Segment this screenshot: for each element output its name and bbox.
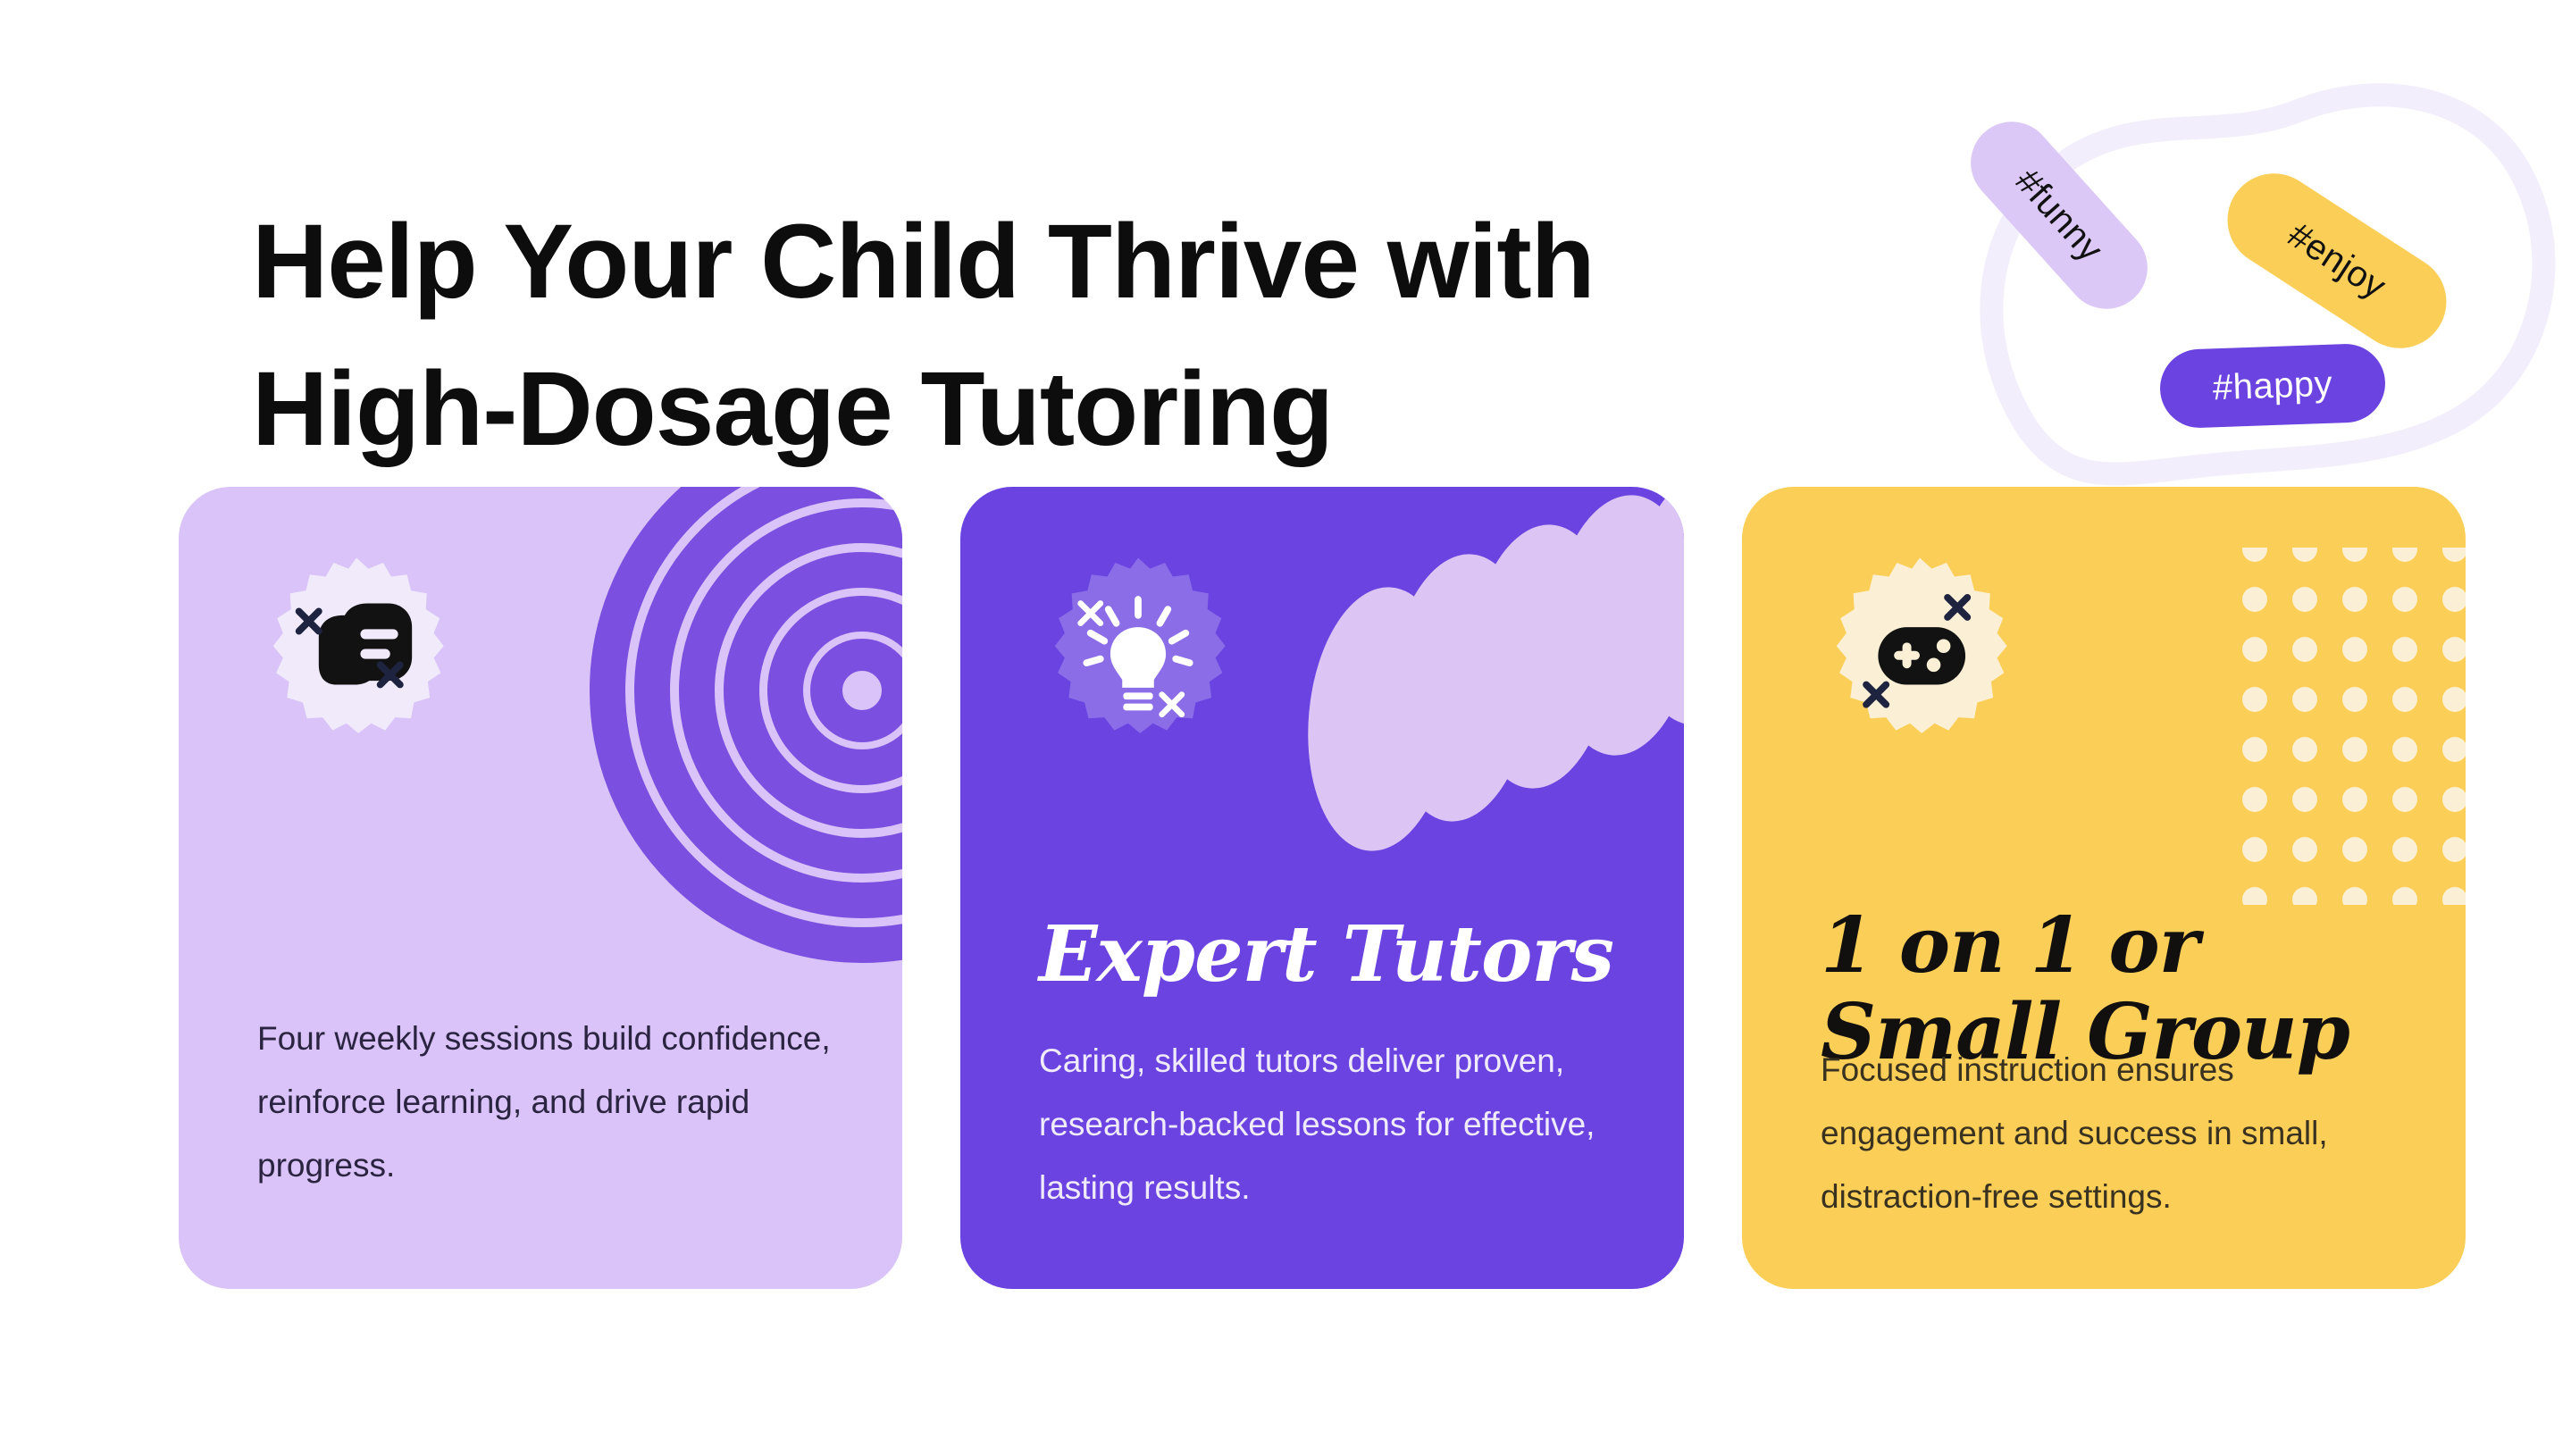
feature-cards-row: Four weekly sessions build confidence, r… bbox=[0, 487, 2571, 1291]
chat-bubbles-badge bbox=[257, 554, 456, 752]
card-weekly-sessions-text: Four weekly sessions build confidence, r… bbox=[257, 1007, 847, 1197]
card-weekly-sessions[interactable]: Four weekly sessions build confidence, r… bbox=[179, 487, 902, 1289]
tag-funny-label: #funny bbox=[2007, 161, 2111, 270]
tag-enjoy-label: #enjoy bbox=[2281, 214, 2393, 307]
gamepad-badge bbox=[1821, 554, 2019, 752]
lightbulb-badge bbox=[1039, 554, 1237, 752]
tag-enjoy[interactable]: #enjoy bbox=[2210, 155, 2465, 365]
tag-happy[interactable]: #happy bbox=[2159, 343, 2387, 430]
card-one-on-one-text: Focused instruction ensures engagement a… bbox=[1821, 1038, 2392, 1228]
tag-happy-label: #happy bbox=[2212, 364, 2333, 408]
card-one-on-one[interactable]: 1 on 1 or Small Group Focused instructio… bbox=[1742, 487, 2466, 1289]
tag-cluster: #funny #enjoy #happy bbox=[1921, 45, 2571, 491]
card-expert-tutors-title: Expert Tutors bbox=[1039, 912, 1613, 998]
page-title: Help Your Child Thrive with High-Dosage … bbox=[252, 188, 1771, 483]
tag-funny[interactable]: #funny bbox=[1954, 105, 2165, 325]
card-expert-tutors-text: Caring, skilled tutors deliver proven, r… bbox=[1039, 1029, 1655, 1219]
card-expert-tutors[interactable]: Expert Tutors Caring, skilled tutors del… bbox=[960, 487, 1684, 1289]
